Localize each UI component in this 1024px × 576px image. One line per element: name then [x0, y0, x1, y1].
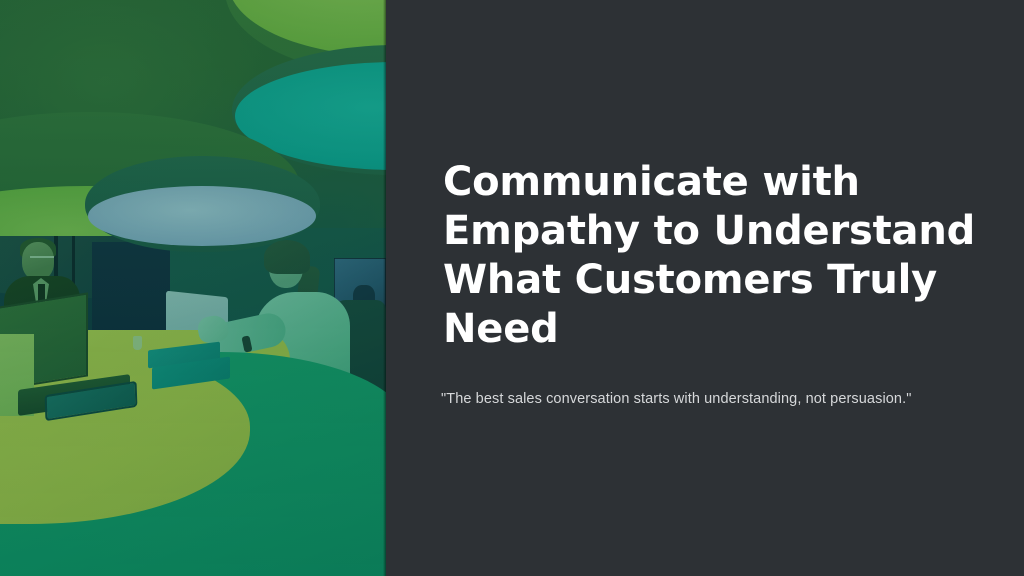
drinking-glass — [133, 336, 142, 350]
glasses-icon — [30, 256, 54, 262]
woman-hair — [264, 240, 310, 274]
slide-text-panel: Communicate with Empathy to Understand W… — [386, 0, 1024, 576]
presentation-slide: Communicate with Empathy to Understand W… — [0, 0, 1024, 576]
slide-photo — [0, 0, 386, 576]
slide-subtitle: "The best sales conversation starts with… — [441, 389, 1001, 409]
pendant-lamp-face-blue — [88, 186, 316, 246]
slide-title: Communicate with Empathy to Understand W… — [443, 158, 983, 354]
